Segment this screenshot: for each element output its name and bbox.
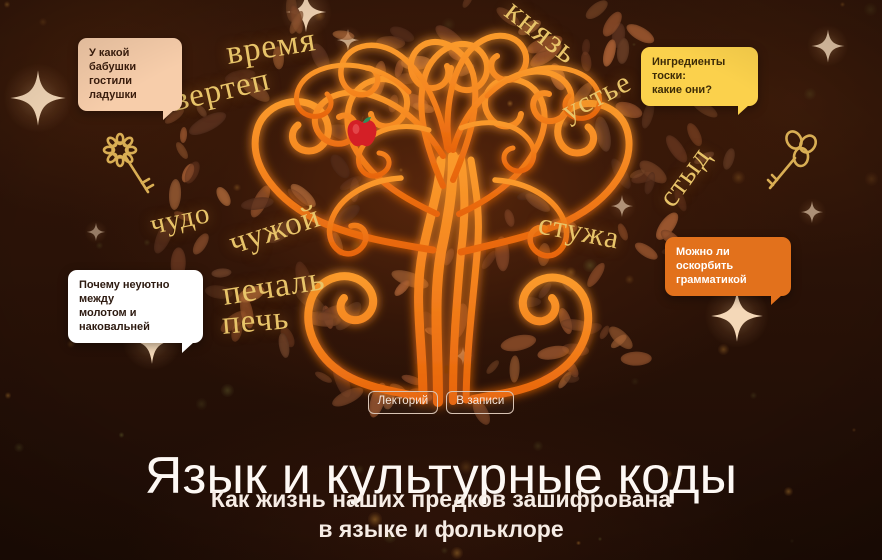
tag-lectorium[interactable]: Лекторий	[368, 391, 439, 414]
hero-banner: времявертепкнязьустьечудочужойпечальпечь…	[0, 0, 882, 560]
tree-illustration	[161, 0, 721, 420]
bubble-anvil[interactable]: Почему неуютно между молотом и наковальн…	[68, 270, 203, 343]
bubble-tail	[182, 342, 194, 353]
bubble-line-2: гостили ладушки	[89, 74, 171, 102]
bubble-grammar[interactable]: Можно ли оскорбить грамматикой	[665, 237, 791, 296]
subtitle-line-2: в языке и фольклоре	[0, 514, 882, 544]
bubble-tail	[771, 295, 782, 305]
bubble-line-2: молотом и наковальней	[79, 306, 192, 334]
tree-swirls	[161, 0, 721, 420]
bubble-line-1: Почему неуютно между	[79, 278, 192, 306]
bubble-line-1: Можно ли оскорбить	[676, 245, 780, 273]
bubble-grandmother[interactable]: У какой бабушки гостили ладушки	[78, 38, 182, 111]
bubble-melancholy[interactable]: Ингредиенты тоски: какие они?	[641, 47, 758, 106]
bubble-line-1: Ингредиенты тоски:	[652, 55, 747, 83]
bubble-line-2: грамматикой	[676, 273, 780, 287]
subtitle-line-1: Как жизнь наших предков зашифрована	[0, 484, 882, 514]
bubble-tail	[163, 110, 174, 120]
tag-list: Лекторий В записи	[0, 391, 882, 414]
apple-icon	[344, 115, 380, 149]
bubble-line-2: какие они?	[652, 83, 747, 97]
bubble-tail	[738, 105, 749, 115]
page-subtitle: Как жизнь наших предков зашифрована в яз…	[0, 484, 882, 545]
tag-recorded[interactable]: В записи	[446, 391, 514, 414]
bubble-line-1: У какой бабушки	[89, 46, 171, 74]
